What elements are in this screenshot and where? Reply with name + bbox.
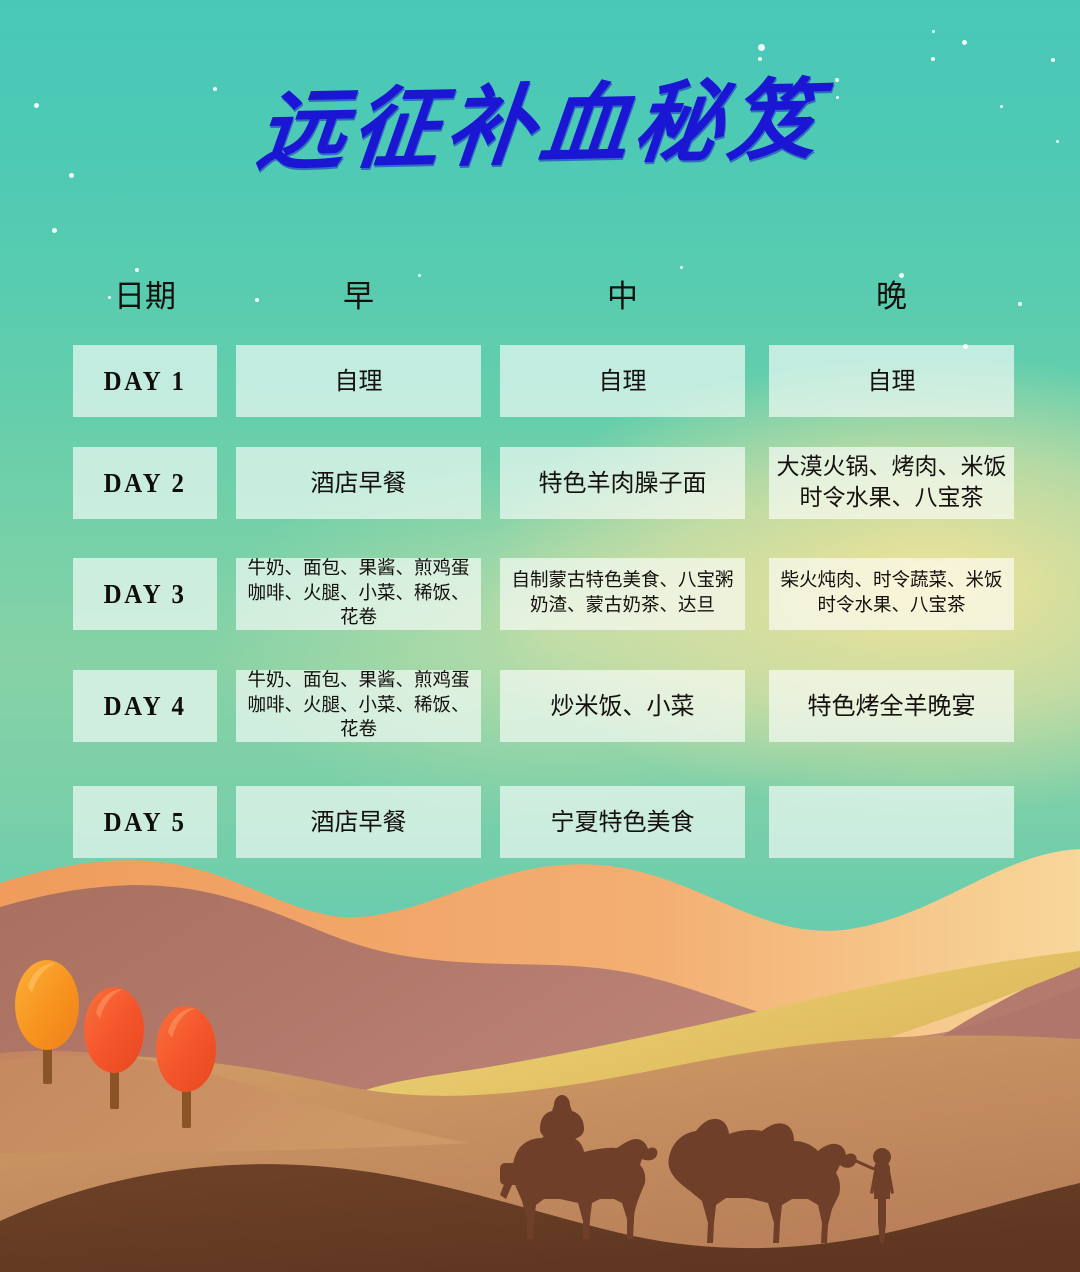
meal-text: 牛奶、面包、果酱、煎鸡蛋 咖啡、火腿、小菜、稀饭、花卷 bbox=[242, 669, 475, 743]
dinner-cell: 大漠火锅、烤肉、米饭 时令水果、八宝茶 bbox=[769, 447, 1014, 519]
day-label-cell: DAY 1 bbox=[73, 345, 217, 417]
lunch-cell: 特色羊肉臊子面 bbox=[500, 447, 745, 519]
poster-title: 远征补血秘笈 bbox=[253, 76, 828, 180]
day-label: DAY 5 bbox=[103, 807, 186, 838]
day-label-cell: DAY 4 bbox=[73, 670, 217, 742]
star-icon bbox=[1051, 58, 1055, 62]
meal-text: 自制蒙古特色美食、八宝粥 奶渣、蒙古奶茶、达旦 bbox=[511, 569, 733, 619]
breakfast-cell: 牛奶、面包、果酱、煎鸡蛋 咖啡、火腿、小菜、稀饭、花卷 bbox=[236, 670, 481, 742]
table-row: DAY 3 牛奶、面包、果酱、煎鸡蛋 咖啡、火腿、小菜、稀饭、花卷 自制蒙古特色… bbox=[0, 558, 1080, 630]
meal-text: 酒店早餐 bbox=[311, 467, 407, 499]
star-icon bbox=[52, 228, 57, 233]
meal-text: 酒店早餐 bbox=[311, 806, 407, 838]
star-icon bbox=[931, 57, 935, 61]
breakfast-cell: 牛奶、面包、果酱、煎鸡蛋 咖啡、火腿、小菜、稀饭、花卷 bbox=[236, 558, 481, 630]
star-icon bbox=[932, 30, 935, 33]
meal-text: 特色烤全羊晚宴 bbox=[808, 690, 976, 722]
meal-text: 宁夏特色美食 bbox=[551, 806, 695, 838]
star-icon bbox=[962, 40, 967, 45]
meal-text: 特色羊肉臊子面 bbox=[539, 467, 707, 499]
breakfast-cell: 自理 bbox=[236, 345, 481, 417]
lunch-cell: 炒米饭、小菜 bbox=[500, 670, 745, 742]
meal-text: 自理 bbox=[599, 365, 647, 397]
title-block: 远征补血秘笈 bbox=[0, 82, 1080, 174]
star-icon bbox=[680, 266, 683, 269]
dinner-cell: 特色烤全羊晚宴 bbox=[769, 670, 1014, 742]
table-row: DAY 1 自理 自理 自理 bbox=[0, 345, 1080, 417]
meal-text: 大漠火锅、烤肉、米饭 时令水果、八宝茶 bbox=[777, 452, 1007, 514]
column-header-dinner: 晚 bbox=[769, 272, 1014, 322]
dinner-cell: 自理 bbox=[769, 345, 1014, 417]
meal-text: 自理 bbox=[335, 365, 383, 397]
column-header-breakfast: 早 bbox=[236, 272, 481, 322]
column-header-lunch: 中 bbox=[500, 272, 745, 322]
dinner-cell: 柴火炖肉、时令蔬菜、米饭 时令水果、八宝茶 bbox=[769, 558, 1014, 630]
meal-text: 炒米饭、小菜 bbox=[551, 690, 695, 722]
desert-illustration bbox=[0, 847, 1080, 1272]
star-icon bbox=[758, 57, 762, 61]
table-row: DAY 2 酒店早餐 特色羊肉臊子面 大漠火锅、烤肉、米饭 时令水果、八宝茶 bbox=[0, 447, 1080, 519]
meal-text: 自理 bbox=[868, 365, 916, 397]
table-row: DAY 4 牛奶、面包、果酱、煎鸡蛋 咖啡、火腿、小菜、稀饭、花卷 炒米饭、小菜… bbox=[0, 670, 1080, 742]
poster-root: 远征补血秘笈 日期 早 中 晚 DAY 1 自理 自理 自理 bbox=[0, 0, 1080, 1272]
day-label: DAY 2 bbox=[103, 468, 186, 499]
day-label: DAY 3 bbox=[103, 579, 186, 610]
day-label-cell: DAY 3 bbox=[73, 558, 217, 630]
day-label: DAY 1 bbox=[103, 366, 186, 397]
day-label-cell: DAY 2 bbox=[73, 447, 217, 519]
breakfast-cell: 酒店早餐 bbox=[236, 447, 481, 519]
lunch-cell: 自制蒙古特色美食、八宝粥 奶渣、蒙古奶茶、达旦 bbox=[500, 558, 745, 630]
star-icon bbox=[758, 44, 765, 51]
day-label: DAY 4 bbox=[103, 691, 186, 722]
meal-text: 牛奶、面包、果酱、煎鸡蛋 咖啡、火腿、小菜、稀饭、花卷 bbox=[242, 557, 475, 631]
table-header-row: 日期 早 中 晚 bbox=[0, 272, 1080, 322]
lunch-cell: 自理 bbox=[500, 345, 745, 417]
column-header-date: 日期 bbox=[73, 272, 217, 322]
meal-text: 柴火炖肉、时令蔬菜、米饭 时令水果、八宝茶 bbox=[780, 569, 1002, 619]
